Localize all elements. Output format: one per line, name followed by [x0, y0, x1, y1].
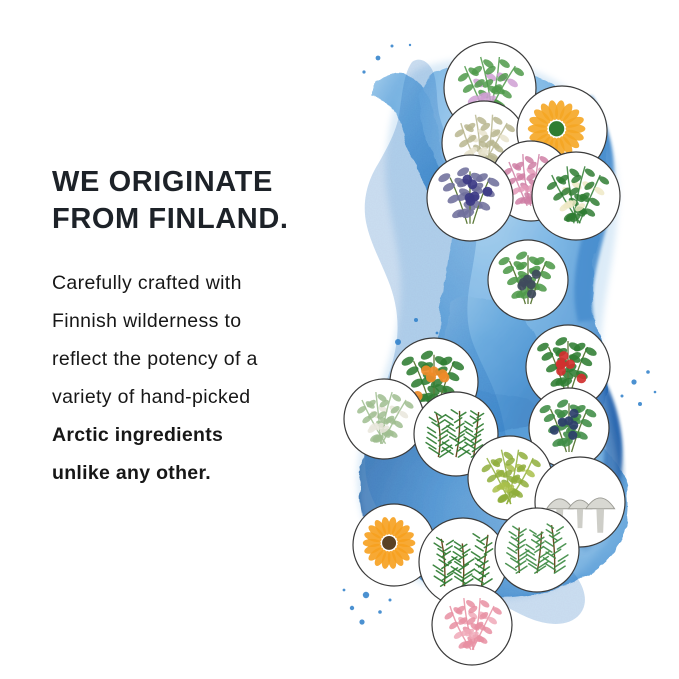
- splatter-dot: [395, 339, 401, 345]
- splatter-dot: [350, 606, 354, 610]
- paragraph-line-4: variety of hand-picked: [52, 378, 352, 416]
- berry: [467, 179, 477, 189]
- finland-map-illustration: Heather sprigsCotton grass / seed podsCl…: [330, 10, 679, 679]
- berry: [532, 270, 541, 279]
- berry: [557, 359, 567, 369]
- botanical-circle-fir-twigs: Fir twigs: [495, 508, 579, 592]
- berry: [569, 409, 578, 418]
- berry: [568, 431, 577, 440]
- splatter-dot: [436, 332, 439, 335]
- paragraph-line-6: unlike any other.: [52, 454, 352, 492]
- map-svg: Heather sprigsCotton grass / seed podsCl…: [330, 10, 679, 679]
- copy-block: WE ORIGINATE FROM FINLAND. Carefully cra…: [52, 164, 352, 492]
- paragraph-line-3: reflect the potency of a: [52, 340, 352, 378]
- splatter-dot: [389, 599, 392, 602]
- splatter-dot: [631, 379, 636, 384]
- splatter-dot: [409, 44, 411, 46]
- splatter-dot: [376, 56, 381, 61]
- splatter-dot: [363, 592, 369, 598]
- botanical-circle-birch-bark: Birch bark: [344, 379, 424, 459]
- splatter-dot: [621, 395, 624, 398]
- splatter-dot: [359, 619, 364, 624]
- body-paragraph: Carefully crafted with Finnish wildernes…: [52, 264, 352, 492]
- page-title: WE ORIGINATE FROM FINLAND.: [52, 164, 352, 238]
- splatter-dot: [343, 589, 346, 592]
- paragraph-line-5: Arctic ingredients: [52, 416, 352, 454]
- berry: [439, 372, 449, 382]
- botanical-circle-bilberry-field: Bilberry and grasses: [427, 155, 513, 241]
- splatter-dot: [646, 370, 650, 374]
- berry: [527, 289, 536, 298]
- berry: [465, 196, 475, 206]
- berry: [550, 426, 559, 435]
- berry: [564, 416, 573, 425]
- berry: [421, 365, 431, 375]
- berry: [519, 278, 528, 287]
- splatter-dot: [362, 70, 365, 73]
- botanical-circle-juniper: Juniper berries: [488, 240, 568, 320]
- splatter-dot: [638, 402, 642, 406]
- botanical-circle-pink-algae: Pink algae / heather: [432, 585, 512, 665]
- splatter-dot: [378, 610, 382, 614]
- splatter-dot: [391, 45, 394, 48]
- berry: [577, 374, 587, 384]
- paragraph-line-2: Finnish wilderness to: [52, 302, 352, 340]
- berry: [565, 359, 575, 369]
- splatter-dot: [414, 318, 418, 322]
- splatter-dot: [654, 391, 657, 394]
- botanical-circle-meadowsweet: Meadowsweet blossom: [532, 152, 620, 240]
- berry: [483, 187, 493, 197]
- poster-canvas: WE ORIGINATE FROM FINLAND. Carefully cra…: [0, 0, 679, 679]
- paragraph-line-1: Carefully crafted with: [52, 264, 352, 302]
